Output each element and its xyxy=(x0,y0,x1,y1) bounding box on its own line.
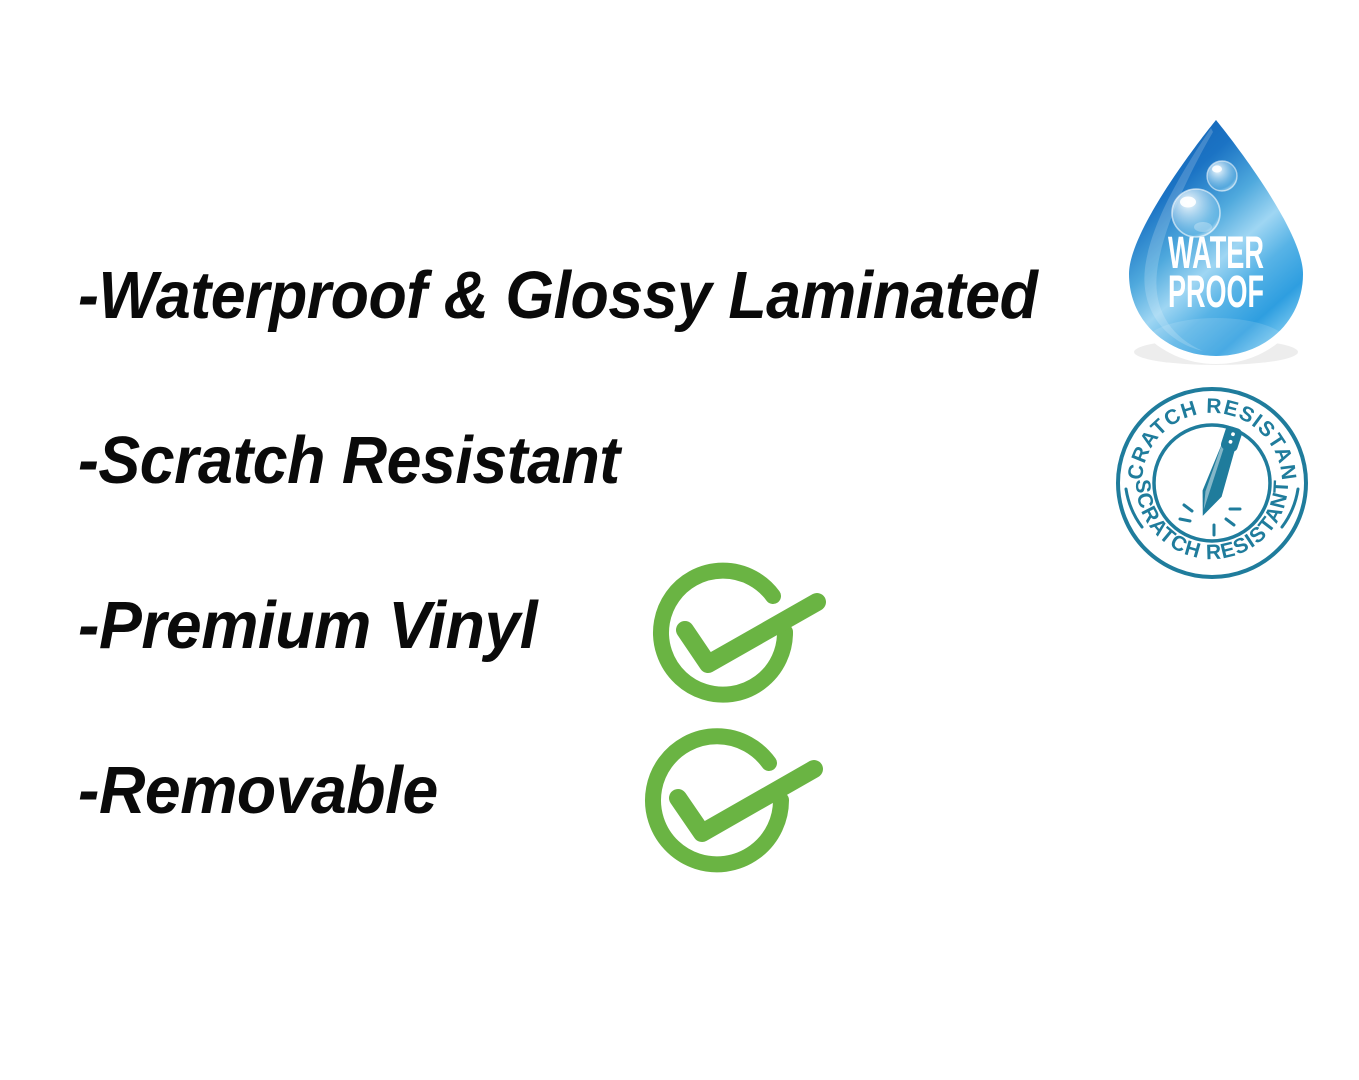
product-feature-graphic: -Waterproof & Glossy Laminated -Scratch … xyxy=(0,0,1359,1080)
check-circle-icon-1 xyxy=(645,560,835,710)
feature-line-waterproof-glossy-laminated: -Waterproof & Glossy Laminated xyxy=(78,262,1037,329)
check-mark xyxy=(678,769,814,833)
waterproof-badge: WATER PROOF xyxy=(1107,108,1325,366)
check-mark xyxy=(685,602,817,664)
feature-line-scratch-resistant: -Scratch Resistant xyxy=(78,427,620,494)
knife-icon xyxy=(1195,424,1243,520)
scratch-arc-top-text: SCRATCH RESISTANT xyxy=(1114,385,1300,482)
scratch-resistant-badge: SCRATCH RESISTANT SCRATCH RESISTANT xyxy=(1114,385,1310,581)
check-circle-icon-2 xyxy=(637,725,833,880)
waterproof-label-line2: PROOF xyxy=(1168,266,1264,317)
impact-lines xyxy=(1180,505,1240,535)
feature-line-removable: -Removable xyxy=(78,757,438,824)
feature-line-premium-vinyl: -Premium Vinyl xyxy=(78,592,537,659)
droplet-bubble-small xyxy=(1207,161,1237,191)
